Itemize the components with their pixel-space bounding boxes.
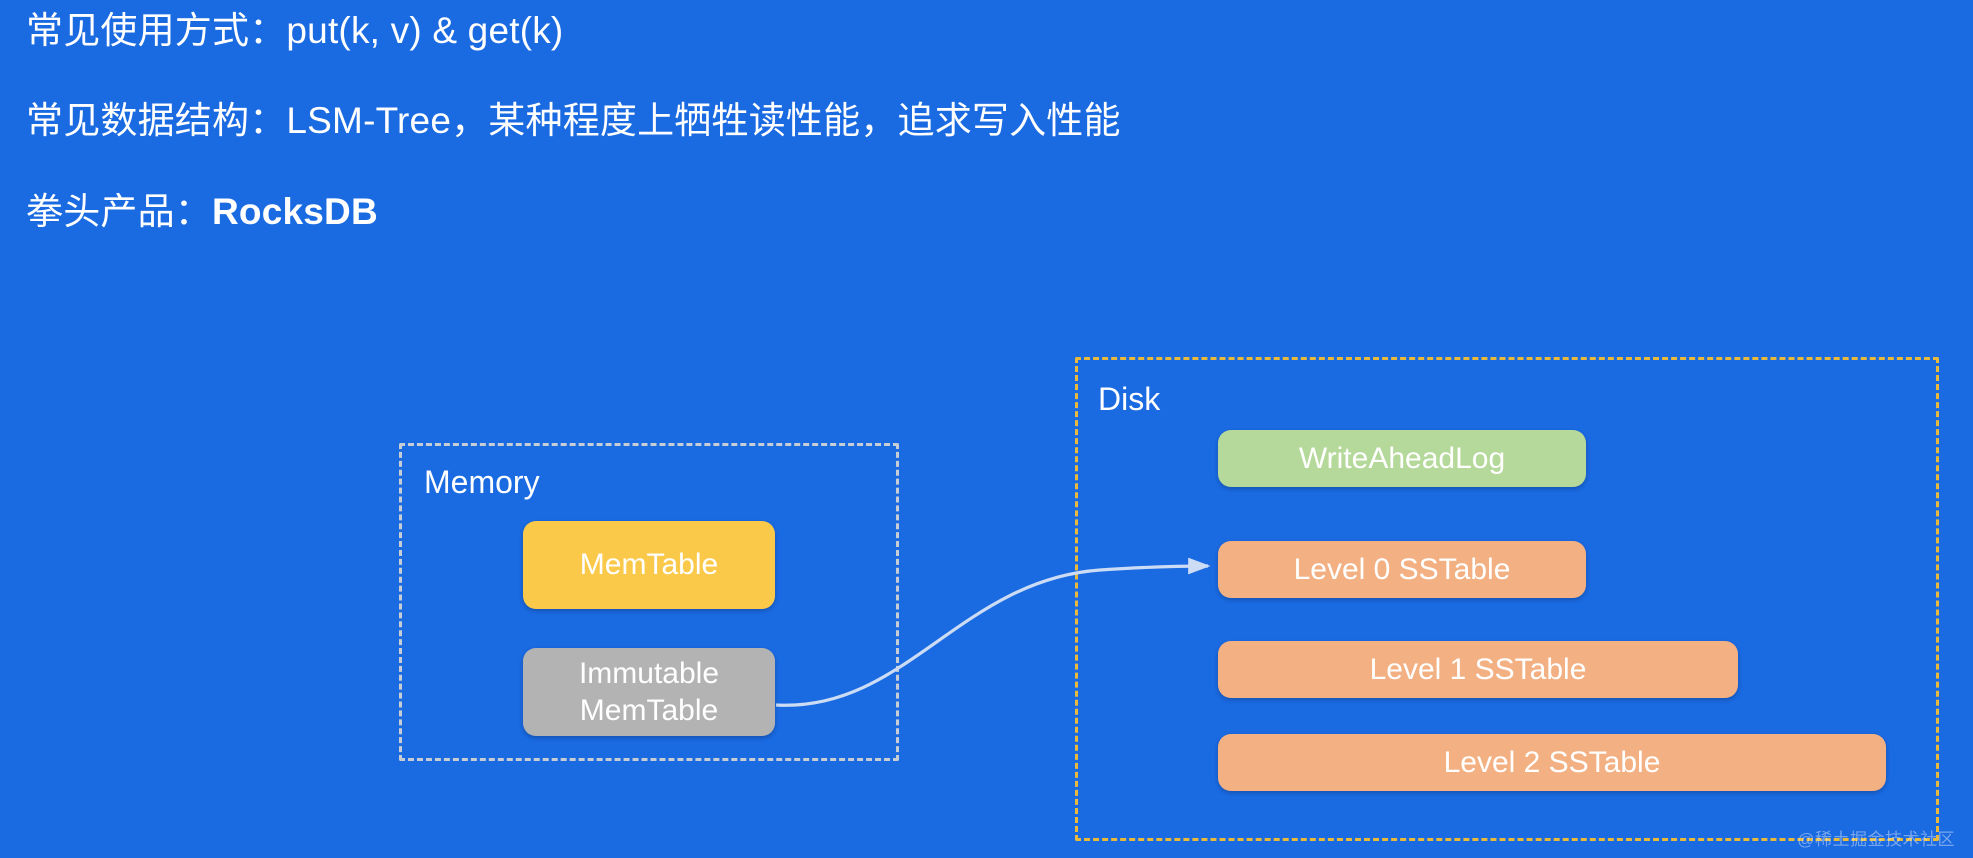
slide-canvas: 常见使用方式：put(k, v) & get(k) 常见数据结构：LSM-Tre… [0,0,1973,858]
node-level-2-sstable[interactable]: Level 2 SSTable [1218,734,1886,791]
node-level-1-sstable[interactable]: Level 1 SSTable [1218,641,1738,698]
node-write-ahead-log[interactable]: WriteAheadLog [1218,430,1586,487]
bullet-structure: 常见数据结构：LSM-Tree，某种程度上牺牲读性能，追求写入性能 [26,102,1121,139]
bullet-usage: 常见使用方式：put(k, v) & get(k) [26,12,563,49]
watermark: @稀土掘金技术社区 [1797,825,1955,850]
group-label-memory: Memory [424,466,540,498]
group-label-disk: Disk [1098,383,1160,415]
node-memtable[interactable]: MemTable [523,521,775,609]
bullet-product: 拳头产品：RocksDB [26,193,378,230]
node-level-0-sstable[interactable]: Level 0 SSTable [1218,541,1586,598]
bullet-product-label: 拳头产品： [26,191,212,232]
node-immutable-memtable[interactable]: Immutable MemTable [523,648,775,736]
bullet-product-value: RocksDB [212,191,378,232]
